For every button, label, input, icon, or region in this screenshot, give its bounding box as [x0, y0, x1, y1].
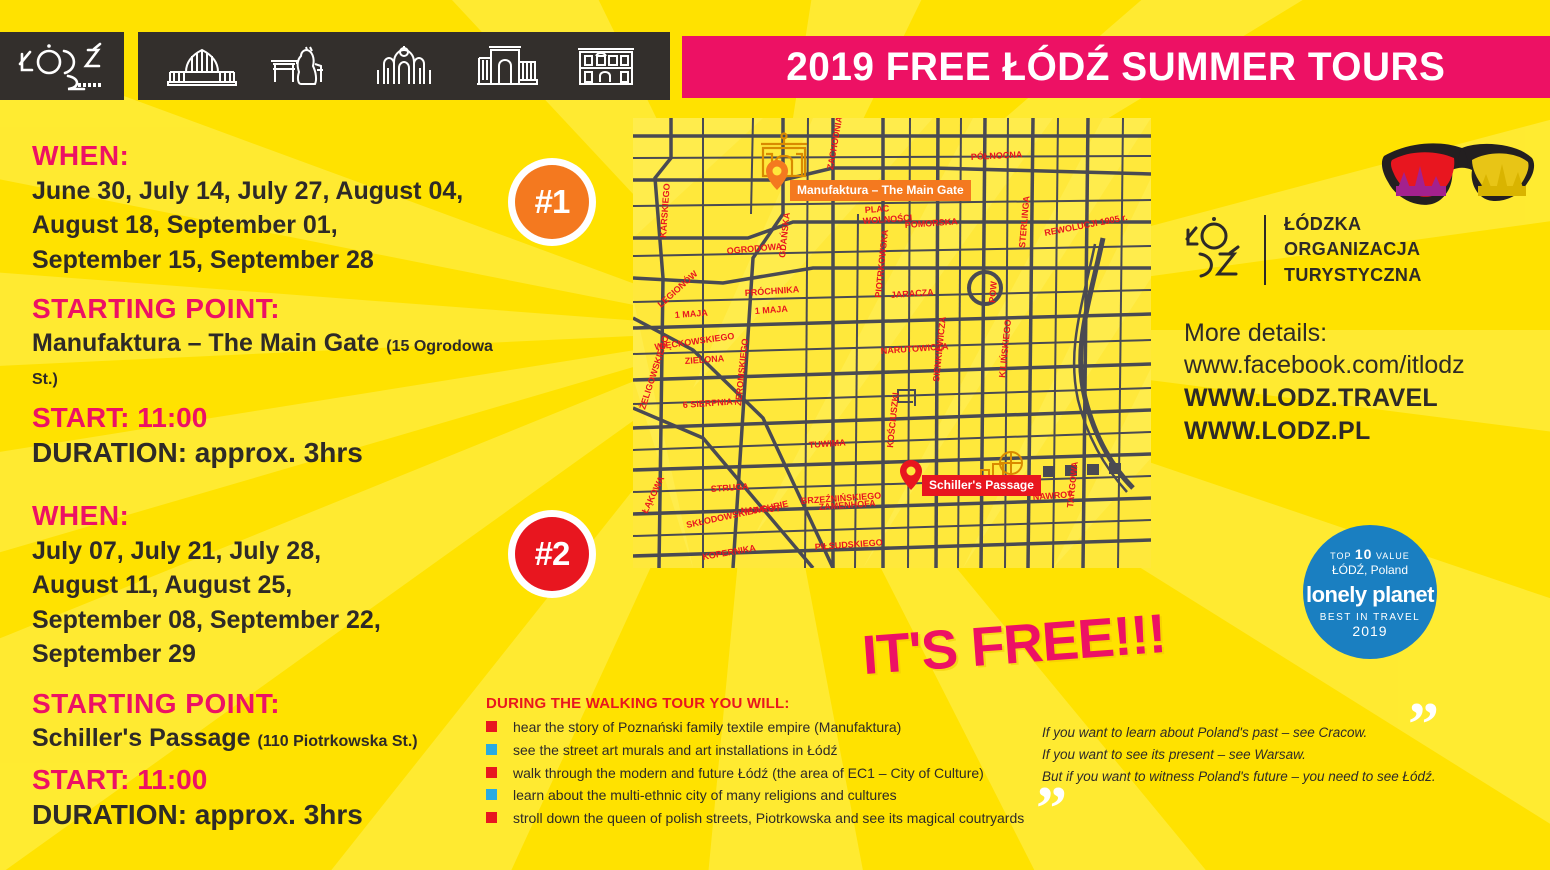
tour-2-starting-point-label: STARTING POINT: [32, 686, 502, 722]
contact-block: More details: www.facebook.com/itlodz WW… [1184, 318, 1465, 449]
website-lodz-travel[interactable]: WWW.LODZ.TRAVEL [1184, 382, 1465, 416]
tour-1-date-line-3: September 15, September 28 [32, 243, 502, 278]
tour-2-number-badge: #2 [508, 510, 596, 598]
tour-2-start-time: START: 11:00 [32, 762, 502, 797]
walking-tour-list: hear the story of Poznański family texti… [486, 719, 1046, 827]
cathedral-icon [368, 42, 440, 90]
lp-top-prefix: TOP [1330, 551, 1351, 561]
lonely-planet-badge: TOP 10 VALUE ŁÓDŹ, Poland lonely planet … [1303, 525, 1437, 659]
walking-tour-heading: DURING THE WALKING TOUR YOU WILL: [486, 695, 1046, 712]
lp-year: 2019 [1352, 623, 1387, 639]
tour-2-date-line-4: September 29 [32, 637, 502, 672]
lp-top-number: 10 [1355, 546, 1373, 562]
landmark-icon-bar [138, 32, 670, 100]
map-label-schillers-passage: Schiller's Passage [922, 475, 1041, 496]
bullet-square-icon [486, 812, 497, 823]
bullet-square-icon [486, 744, 497, 755]
its-free-headline: IT'S FREE!!! [860, 601, 1167, 687]
sunglasses-icon [1378, 138, 1538, 218]
list-item: walk through the modern and future Łódź … [486, 765, 1046, 782]
tour-1-start-time: START: 11:00 [32, 400, 502, 435]
bench-statue-icon [267, 42, 339, 90]
tour-1-date-line-1: June 30, July 14, July 27, August 04, [32, 174, 502, 209]
facebook-link[interactable]: www.facebook.com/itlodz [1184, 350, 1465, 382]
map-pin-schillers-passage[interactable] [900, 460, 922, 490]
map-pin-manufaktura[interactable] [766, 160, 788, 190]
svg-text:POW: POW [987, 280, 999, 303]
tour-1-number-badge: #1 [508, 158, 596, 246]
tour-1-when-label: WHEN: [32, 138, 502, 174]
tour-1-duration: DURATION: approx. 3hrs [32, 435, 502, 470]
list-item-text: walk through the modern and future Łódź … [513, 765, 984, 782]
tour-1-date-line-2: August 18, September 01, [32, 208, 502, 243]
list-item: hear the story of Poznański family texti… [486, 719, 1046, 736]
website-lodz-pl[interactable]: WWW.LODZ.PL [1184, 415, 1465, 449]
tour-2-duration: DURATION: approx. 3hrs [32, 797, 502, 832]
tours-info-column: WHEN: June 30, July 14, July 27, August … [32, 138, 502, 836]
lp-top-suffix: VALUE [1376, 551, 1410, 561]
lp-brand: lonely planet [1306, 582, 1434, 608]
lot-name-line-2: ORGANIZACJA [1284, 237, 1422, 263]
bullet-square-icon [486, 789, 497, 800]
list-item-text: see the street art murals and art instal… [513, 742, 838, 759]
list-item-text: hear the story of Poznański family texti… [513, 719, 901, 736]
list-item-text: stroll down the queen of polish streets,… [513, 810, 1024, 827]
tour-1-starting-point: Manufaktura – The Main Gate (15 Ogrodowa… [32, 327, 502, 392]
quote-block: If you want to learn about Poland's past… [1042, 722, 1472, 788]
tour-2-number-label: #2 [515, 517, 589, 591]
walking-tour-highlights: DURING THE WALKING TOUR YOU WILL: hear t… [486, 695, 1046, 833]
lodz-city-logo-icon [16, 40, 110, 92]
lot-organization-name: ŁÓDZKA ORGANIZACJA TURYSTYCZNA [1284, 212, 1422, 289]
tour-2-date-line-1: July 07, July 21, July 28, [32, 534, 502, 569]
quote-line-3: But if you want to witness Poland's futu… [1042, 766, 1472, 788]
tour-1-starting-point-name: Manufaktura – The Main Gate [32, 329, 379, 357]
list-item: see the street art murals and art instal… [486, 742, 1046, 759]
tour-1-block: WHEN: June 30, July 14, July 27, August … [32, 138, 502, 470]
lodz-mark-icon [1184, 214, 1250, 286]
list-item-text: learn about the multi-ethnic city of man… [513, 787, 897, 804]
poster-root: 2019 FREE ŁÓDŹ SUMMER TOURS WHEN: June 3… [0, 0, 1550, 870]
bullet-square-icon [486, 767, 497, 778]
tour-2-block: WHEN: July 07, July 21, July 28, August … [32, 498, 502, 832]
poster-title: 2019 FREE ŁÓDŹ SUMMER TOURS [786, 45, 1445, 90]
list-item: stroll down the queen of polish streets,… [486, 810, 1046, 827]
lp-place: ŁÓDŹ, Poland [1332, 563, 1408, 577]
logo-divider [1264, 215, 1266, 285]
svg-text:PLAC: PLAC [864, 203, 890, 215]
more-details-label: More details: [1184, 318, 1465, 350]
lot-name-line-3: TURYSTYCZNA [1284, 263, 1422, 289]
quote-mark-close-icon: ” [1036, 778, 1067, 840]
tour-1-starting-point-label: STARTING POINT: [32, 291, 502, 327]
quote-line-2: If you want to see its present – see War… [1042, 744, 1472, 766]
tour-2-date-line-2: August 11, August 25, [32, 568, 502, 603]
tour-1-number-label: #1 [515, 165, 589, 239]
tour-2-starting-point: Schiller's Passage (110 Piotrkowska St.) [32, 722, 502, 755]
lot-name-line-1: ŁÓDZKA [1284, 212, 1422, 238]
lp-top-line: TOP 10 VALUE [1330, 546, 1410, 562]
quote-line-1: If you want to learn about Poland's past… [1042, 722, 1472, 744]
market-hall-icon [166, 42, 238, 90]
palace-facade-icon [570, 42, 642, 90]
lp-best-in-travel: BEST IN TRAVEL [1320, 612, 1420, 623]
map-label-manufaktura: Manufaktura – The Main Gate [790, 180, 971, 201]
tour-2-starting-point-name: Schiller's Passage [32, 724, 251, 752]
city-logo-bar [0, 32, 124, 100]
tour-2-when-label: WHEN: [32, 498, 502, 534]
bullet-square-icon [486, 721, 497, 732]
tour-2-date-line-3: September 08, September 22, [32, 603, 502, 638]
poster-title-banner: 2019 FREE ŁÓDŹ SUMMER TOURS [682, 36, 1550, 98]
tour-2-starting-point-address: (110 Piotrkowska St.) [258, 733, 418, 750]
gate-building-icon [469, 42, 541, 90]
lot-organization-logo: ŁÓDZKA ORGANIZACJA TURYSTYCZNA [1184, 208, 1484, 292]
list-item: learn about the multi-ethnic city of man… [486, 787, 1046, 804]
